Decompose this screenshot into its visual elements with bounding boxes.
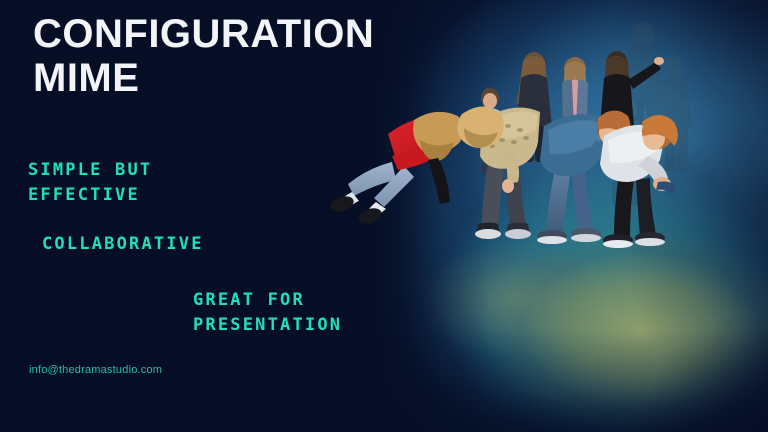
page-title: CONFIGURATION MIME — [33, 12, 463, 100]
slide-canvas: CONFIGURATION MIME SIMPLE BUT EFFECTIVE … — [0, 0, 768, 432]
bullet-great-for-presentation: GREAT FOR PRESENTATION — [193, 288, 342, 338]
bullet-simple-but-effective: SIMPLE BUT EFFECTIVE — [28, 158, 152, 208]
contact-email[interactable]: info@thedramastudio.com — [29, 364, 162, 376]
figure-child-white-top-bending — [600, 115, 678, 248]
figure-child-red-sweater-leaning — [330, 112, 474, 227]
figure-child-leopard-top-bending — [457, 106, 540, 239]
bullet-collaborative: COLLABORATIVE — [42, 232, 204, 257]
